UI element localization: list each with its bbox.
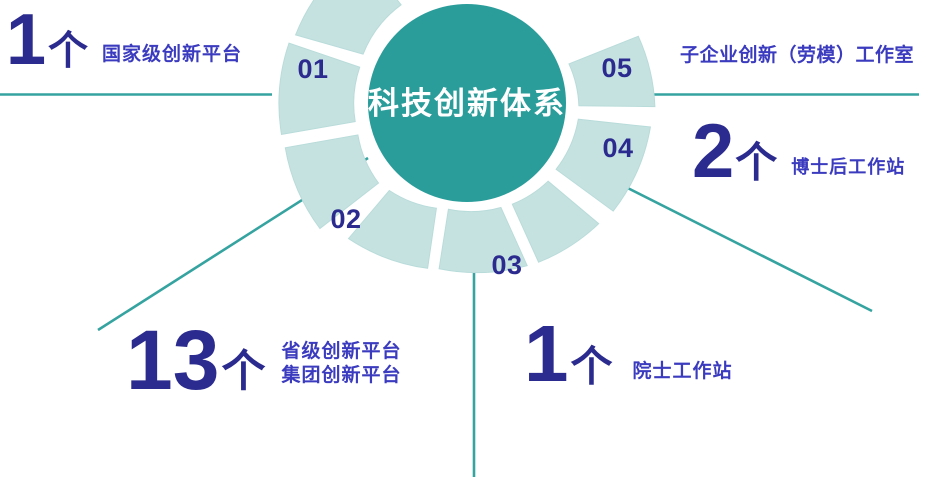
callout-subsidiary-desc: 子企业创新（劳模）工作室 [680, 44, 914, 68]
petal-blank-bottom-left-shape[interactable] [349, 191, 437, 269]
petal-number-04: 04 [602, 133, 633, 163]
hub-label: 科技创新体系 [368, 86, 566, 121]
callout-postdoc-unit: 个 [735, 144, 777, 182]
callout-national[interactable]: 1 个 国家级创新平台 [6, 8, 242, 73]
callout-national-number: 1 [6, 8, 46, 73]
callout-provincial[interactable]: 13 个 省级创新平台 集团创新平台 [126, 318, 401, 402]
callout-provincial-number: 13 [126, 318, 219, 402]
petal-01-shape[interactable] [296, 0, 402, 54]
callout-academician-desc: 院士工作站 [633, 360, 733, 384]
callout-academician-unit: 个 [571, 348, 613, 386]
callout-national-desc: 国家级创新平台 [102, 43, 242, 67]
callout-provincial-desc: 省级创新平台 集团创新平台 [281, 340, 401, 389]
petal-number-05: 05 [601, 53, 632, 83]
callout-national-unit: 个 [48, 33, 88, 69]
callout-postdoc[interactable]: 2 个 博士后工作站 [692, 118, 905, 186]
petal-blank-bottom-right-shape[interactable] [512, 181, 598, 262]
callout-academician-number: 1 [524, 318, 569, 390]
petal-number-02: 02 [330, 204, 361, 234]
petal-number-01: 01 [297, 54, 328, 84]
callout-provincial-unit: 个 [221, 352, 265, 392]
callout-subsidiary[interactable]: 子企业创新（劳模）工作室 [680, 44, 914, 68]
callout-postdoc-desc: 博士后工作站 [791, 156, 905, 179]
infographic-root: 科技创新体系 01 02 03 04 05 1 个 国家级创新平台 子企业创新（… [0, 0, 947, 477]
callout-postdoc-number: 2 [692, 118, 734, 186]
petal-number-03: 03 [491, 250, 522, 280]
callout-academician[interactable]: 1 个 院士工作站 [524, 318, 733, 390]
callout-provincial-desc-line1: 省级创新平台 [281, 340, 401, 364]
callout-provincial-desc-line2: 集团创新平台 [281, 364, 401, 388]
